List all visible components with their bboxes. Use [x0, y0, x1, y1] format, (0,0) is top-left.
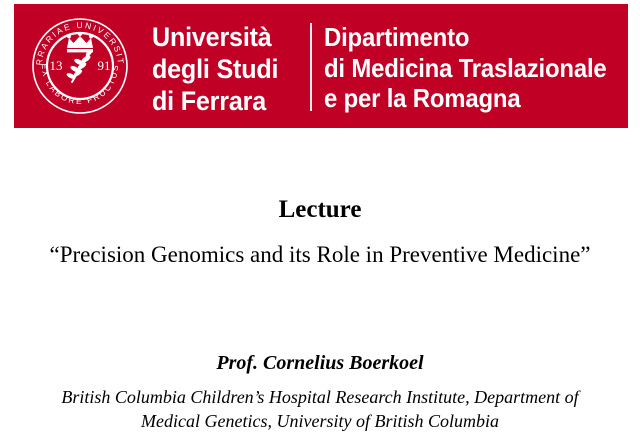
speaker-name: Prof. Cornelius Boerkoel	[0, 268, 640, 375]
header-banner: · FERRARIAE UNIVERSITAS · · EX LABORE FR…	[14, 4, 628, 128]
lecture-title: “Precision Genomics and its Role in Prev…	[0, 224, 640, 269]
university-seal-icon: · FERRARIAE UNIVERSITAS · · EX LABORE FR…	[26, 12, 134, 120]
department-name-line-3: e per la Romagna	[324, 83, 607, 114]
speaker-affiliation: British Columbia Children’s Hospital Res…	[0, 375, 640, 434]
lecture-body: Lecture “Precision Genomics and its Role…	[0, 128, 640, 434]
university-name-line-3: di Ferrara	[152, 86, 278, 118]
lecture-heading: Lecture	[0, 128, 640, 224]
university-name-line-2: degli Studi	[152, 54, 278, 86]
seal-year-left: 13	[50, 58, 63, 73]
banner-divider	[310, 23, 312, 111]
department-name: Dipartimento di Medicina Traslazionale e…	[324, 22, 607, 114]
department-name-line-2: di Medicina Traslazionale	[324, 53, 607, 84]
university-name: Università degli Studi di Ferrara	[152, 22, 278, 118]
seal-year-right: 91	[98, 58, 111, 73]
university-name-line-1: Università	[152, 22, 278, 54]
department-name-line-1: Dipartimento	[324, 22, 607, 53]
